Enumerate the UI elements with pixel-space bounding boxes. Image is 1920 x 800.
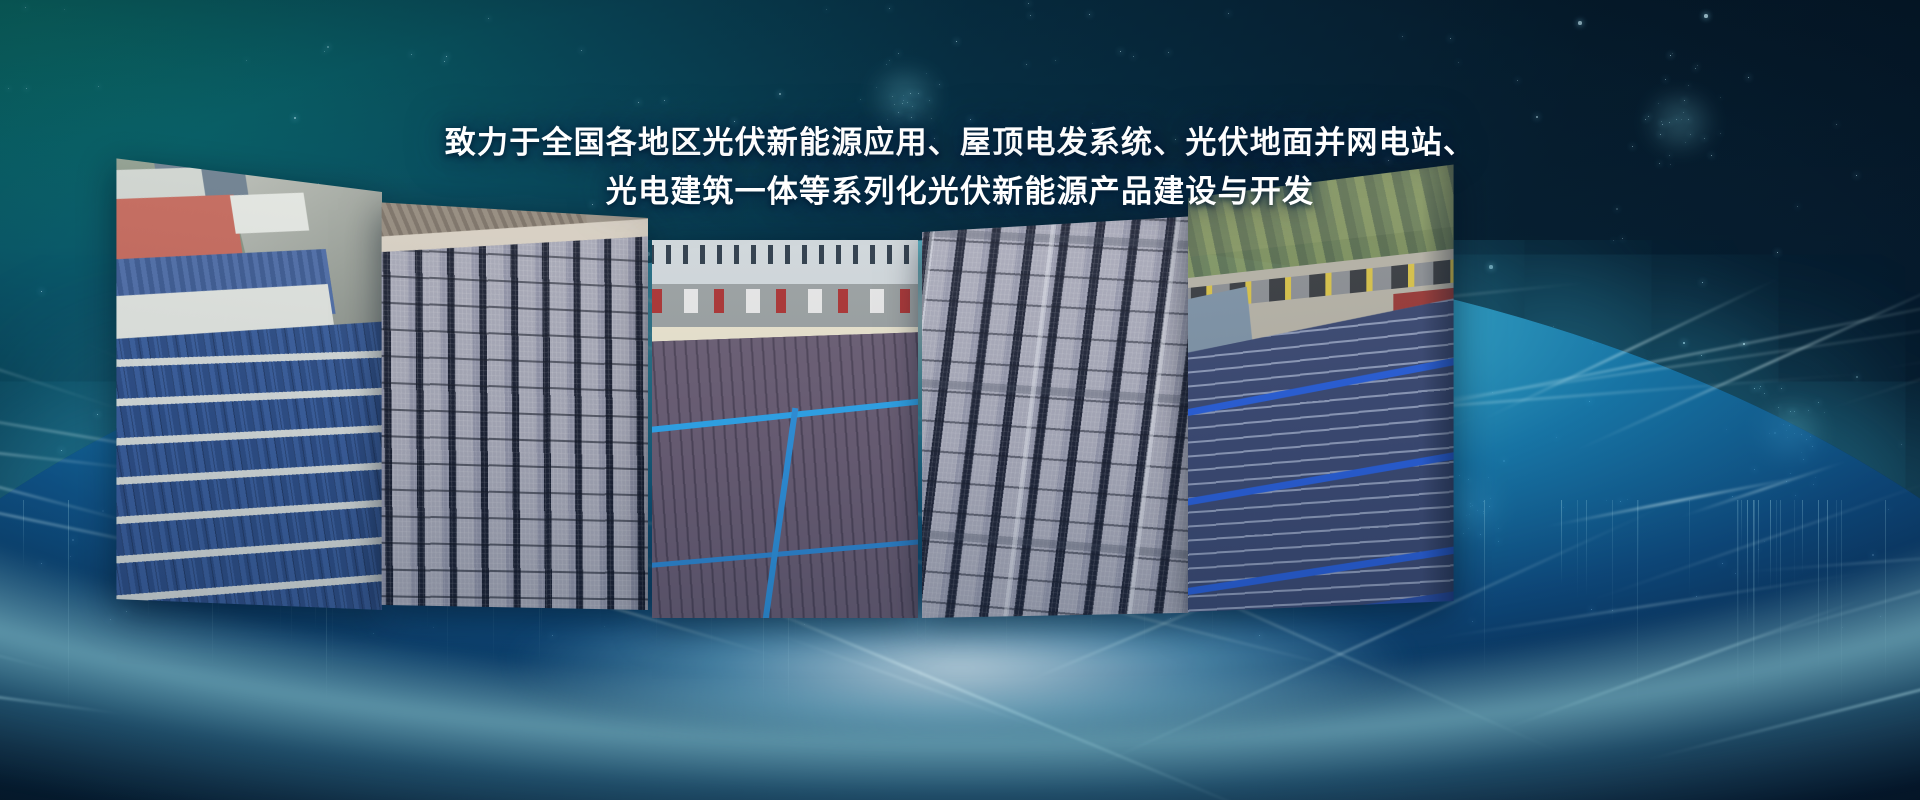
photo-4-sheen [922,217,1188,618]
gallery-photo-5[interactable] [1188,165,1454,612]
photo-5-sheen [1188,165,1454,612]
gallery-photo-4[interactable] [922,217,1188,618]
gallery-photo-1[interactable] [116,158,382,610]
gallery-photo-2[interactable] [382,202,648,610]
banner-headline: 致力于全国各地区光伏新能源应用、屋顶电发系统、光伏地面并网电站、 光电建筑一体等… [0,118,1920,216]
headline-line-1: 致力于全国各地区光伏新能源应用、屋顶电发系统、光伏地面并网电站、 [0,118,1920,167]
photo-2-sheen [382,202,648,610]
headline-line-2: 光电建筑一体等系列化光伏新能源产品建设与开发 [0,167,1920,216]
promo-banner: 致力于全国各地区光伏新能源应用、屋顶电发系统、光伏地面并网电站、 光电建筑一体等… [0,0,1920,800]
gallery-photo-3[interactable] [652,240,918,618]
photo-1-sheen [116,158,382,610]
photo-3-sheen [652,240,918,618]
